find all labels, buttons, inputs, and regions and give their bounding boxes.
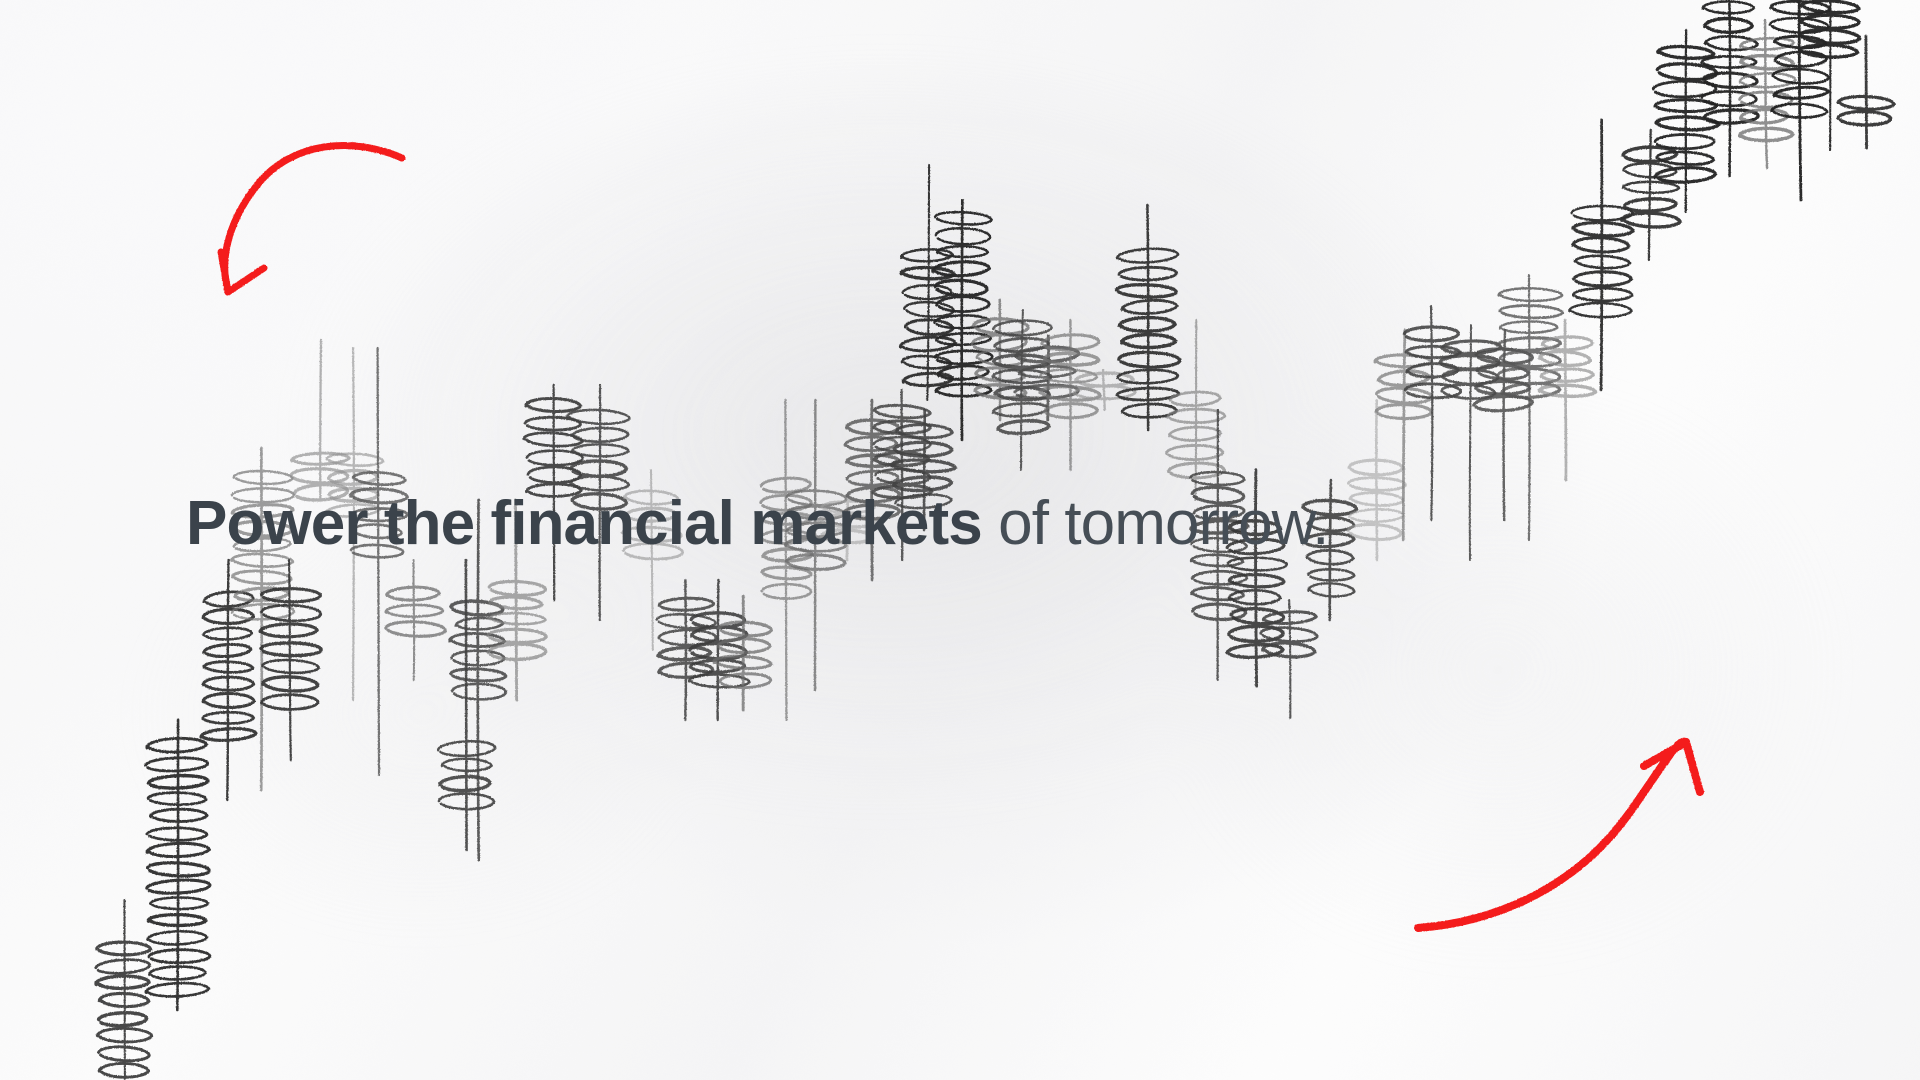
candlestick (1799, 0, 1860, 150)
candlestick (689, 580, 750, 720)
candlestick (95, 900, 151, 1080)
candlestick (260, 560, 321, 760)
page-title: Power the financial markets of tomorrow. (186, 487, 1920, 561)
headline-tail: of tomorrow. (982, 489, 1329, 558)
hero-banner: Power the financial markets of tomorrow. (0, 0, 1920, 1080)
candlestick (350, 348, 407, 775)
candlestick (1260, 600, 1317, 718)
candlestick (145, 720, 210, 1010)
candlestick (1838, 36, 1895, 148)
headline-emphasis: Power the financial markets (186, 489, 982, 558)
hero-headline-block: Power the financial markets of tomorrow. (0, 487, 1920, 561)
candlestick (1539, 320, 1595, 480)
candlestick (201, 560, 257, 800)
candlestick (1740, 20, 1796, 168)
candlestick (385, 560, 445, 680)
candlestick (291, 340, 349, 501)
candlestick (656, 580, 716, 720)
candlestick (1701, 0, 1758, 176)
